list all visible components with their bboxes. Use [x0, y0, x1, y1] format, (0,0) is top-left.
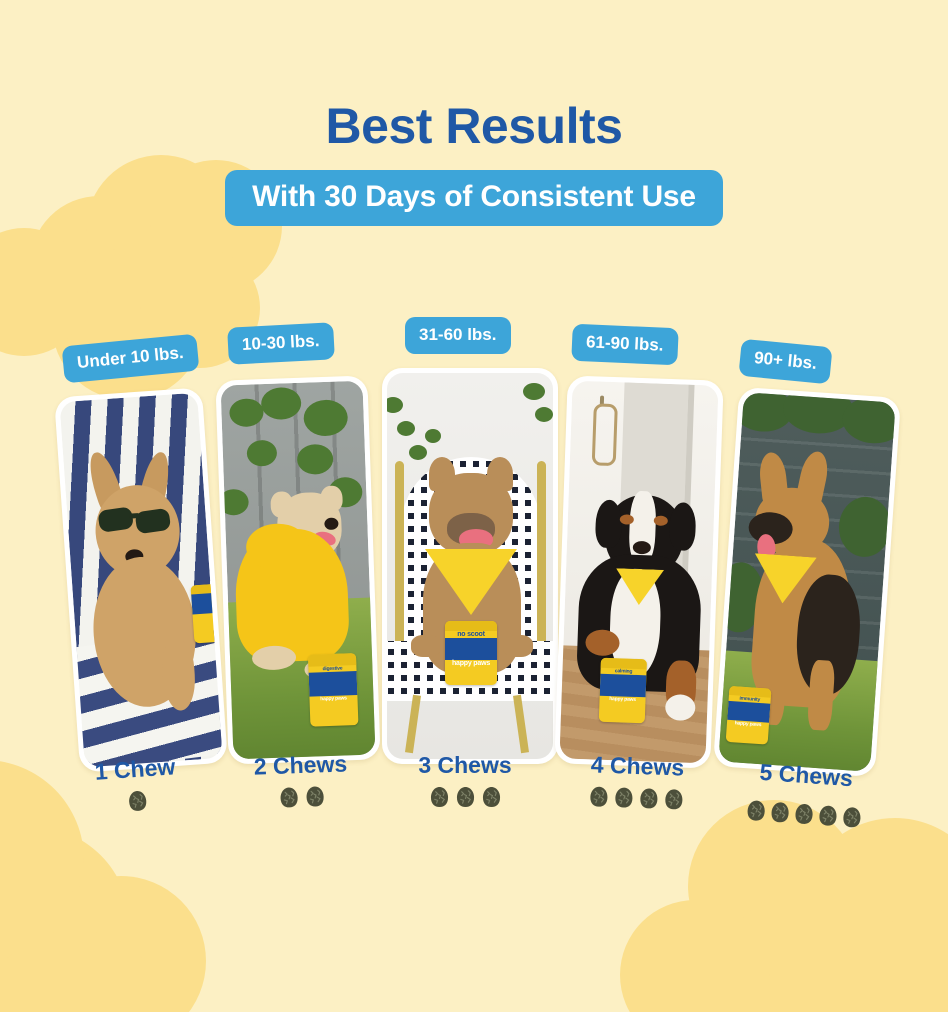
- chair-frame: [537, 461, 546, 649]
- header: Best Results With 30 Days of Consistent …: [0, 100, 948, 226]
- chew-icon-row-2: [222, 783, 381, 811]
- chew-label-3: 3 Chews: [386, 752, 544, 779]
- leash-loop: [592, 403, 618, 466]
- dog-photo-card-4[interactable]: calming happy paws: [554, 375, 723, 768]
- dog-paw: [411, 635, 441, 657]
- jar-band: [191, 593, 220, 615]
- foliage: [397, 421, 415, 436]
- chew-treat-icon: [456, 786, 475, 808]
- weight-pill-1[interactable]: Under 10 lbs.: [62, 334, 200, 384]
- dosage-block-3: 3 Chews: [386, 752, 544, 808]
- chew-treat-icon: [639, 787, 659, 810]
- chew-label-2: 2 Chews: [221, 749, 380, 781]
- product-jar: calming happy paws: [599, 658, 647, 724]
- chair-frame: [395, 461, 404, 649]
- dog-photo-2: digestive happy paws: [221, 381, 376, 760]
- jar-brand: happy paws: [309, 695, 357, 703]
- chew-treat-icon: [589, 785, 609, 808]
- weight-pill-2[interactable]: 10-30 lbs.: [227, 322, 334, 364]
- dog-photo-1: [59, 393, 222, 768]
- weight-pill-4[interactable]: 61-90 lbs.: [571, 324, 678, 366]
- jar-band: [309, 671, 358, 697]
- foliage: [523, 383, 545, 400]
- chew-treat-icon: [793, 802, 813, 825]
- foliage: [535, 407, 553, 422]
- chew-treat-icon: [279, 786, 299, 809]
- jar-product-name: no scoot: [445, 631, 497, 638]
- chew-treat-icon: [430, 786, 449, 808]
- jar-band: [445, 638, 497, 660]
- chew-treat-icon: [305, 785, 325, 808]
- product-jar: no scoot happy paws: [445, 621, 497, 685]
- chew-icon-row-4: [557, 784, 716, 812]
- chew-icon-row-5: [722, 790, 886, 830]
- dog-ear: [270, 491, 293, 518]
- chew-label-4: 4 Chews: [558, 750, 717, 782]
- dog-photo-4: calming happy paws: [559, 381, 718, 764]
- foliage: [409, 445, 427, 460]
- dog-photo-card-3[interactable]: no scoot happy paws: [382, 368, 558, 764]
- jar-brand: happy paws: [599, 696, 645, 704]
- results-infographic: Best Results With 30 Days of Consistent …: [0, 0, 948, 1012]
- dog-photo-card-2[interactable]: digestive happy paws: [215, 375, 380, 764]
- dosage-block-2: 2 Chews: [221, 749, 381, 810]
- product-jar: digestive happy paws: [308, 653, 358, 727]
- jar-band: [600, 674, 647, 697]
- product-jar: [191, 584, 223, 644]
- page-title: Best Results: [0, 100, 948, 153]
- dog-paw: [503, 635, 533, 657]
- dosage-block-4: 4 Chews: [557, 750, 717, 811]
- chew-treat-icon: [817, 804, 837, 827]
- chew-treat-icon: [664, 788, 684, 811]
- chew-treat-icon: [614, 786, 634, 809]
- dog-photo-5: immunity happy paws: [718, 392, 895, 772]
- weight-pill-5[interactable]: 90+ lbs.: [738, 339, 832, 385]
- dog-ear: [320, 485, 343, 512]
- weight-pill-3[interactable]: 31-60 lbs.: [405, 317, 511, 354]
- chew-treat-icon: [745, 799, 765, 822]
- dog-ear: [669, 502, 697, 551]
- foliage: [425, 429, 441, 443]
- chew-treat-icon: [769, 801, 789, 824]
- dog-photo-card-1[interactable]: [54, 387, 228, 772]
- chew-icon-row-3: [386, 786, 544, 808]
- dosage-block-5: 5 Chews: [722, 756, 888, 830]
- product-jar: immunity happy paws: [726, 686, 772, 745]
- dog-ear: [595, 499, 623, 548]
- chew-treat-icon: [841, 806, 861, 829]
- dog-photo-card-5[interactable]: immunity happy paws: [713, 387, 901, 777]
- dosage-block-1: 1 Chew: [55, 751, 217, 818]
- chew-treat-icon: [127, 789, 147, 812]
- chew-treat-icon: [482, 786, 501, 808]
- jar-lid: [445, 621, 497, 631]
- dog-photo-3: no scoot happy paws: [387, 373, 553, 759]
- chew-icon-row-1: [58, 784, 217, 817]
- subtitle-pill: With 30 Days of Consistent Use: [225, 170, 723, 226]
- jar-brand: happy paws: [445, 660, 497, 667]
- sunglasses-bridge: [129, 513, 139, 519]
